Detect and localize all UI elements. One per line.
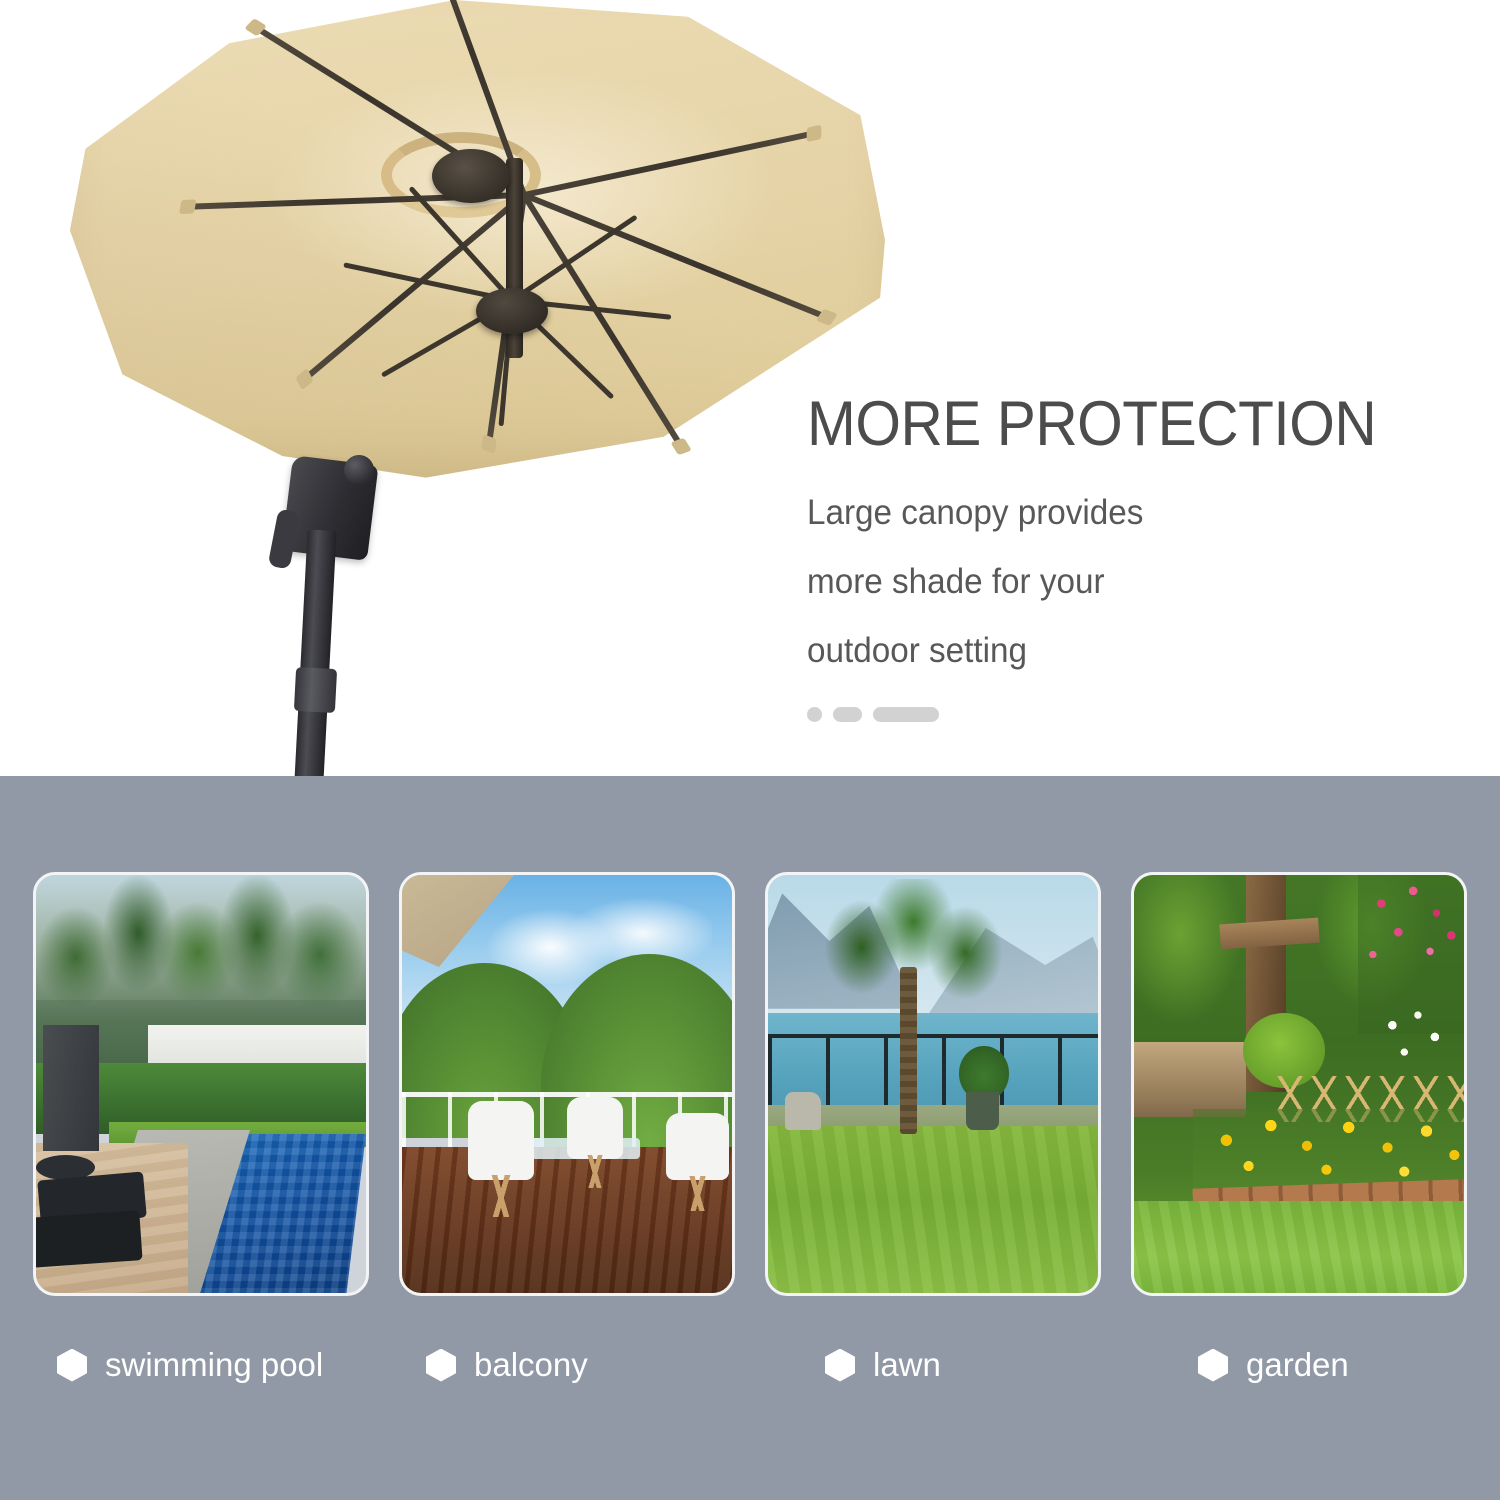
pool-lounger bbox=[36, 1210, 143, 1268]
hero-subcopy-line-3: outdoor setting bbox=[807, 631, 1027, 670]
pool-outdoor-shower bbox=[43, 1025, 99, 1150]
scenario-label: balcony bbox=[474, 1346, 588, 1384]
usage-scenarios-section: swimming pool balcony lawn garden bbox=[0, 776, 1500, 1500]
garden-white-flowers bbox=[1372, 1000, 1458, 1084]
progress-dot-1 bbox=[807, 707, 822, 722]
hexagon-bullet-icon bbox=[426, 1349, 456, 1382]
balcony-chair bbox=[666, 1113, 729, 1180]
umbrella-top-hub bbox=[432, 149, 510, 203]
product-feature-page: MORE PROTECTION Large canopy provides mo… bbox=[0, 0, 1500, 1500]
progress-dot-2 bbox=[833, 707, 862, 722]
umbrella-tilt-knob bbox=[344, 455, 374, 485]
umbrella-pole-collar bbox=[294, 667, 337, 713]
hero-section: MORE PROTECTION Large canopy provides mo… bbox=[0, 0, 1500, 776]
scenario-caption-swimming-pool: swimming pool bbox=[33, 1330, 326, 1400]
scenario-caption-balcony: balcony bbox=[356, 1330, 695, 1400]
scenario-caption-garden: garden bbox=[1124, 1330, 1467, 1400]
lawn-grass bbox=[768, 1126, 1098, 1293]
scenario-label: garden bbox=[1246, 1346, 1349, 1384]
scenario-label: lawn bbox=[873, 1346, 941, 1384]
scenario-thumbnail-lawn[interactable] bbox=[765, 872, 1101, 1296]
patio-umbrella-product-image bbox=[45, 0, 905, 776]
garden-photo bbox=[1134, 875, 1464, 1293]
balcony-photo bbox=[402, 875, 732, 1293]
garden-wooden-bench bbox=[1134, 1042, 1246, 1117]
scenario-thumbnail-swimming-pool[interactable] bbox=[33, 872, 369, 1296]
umbrella-canopy bbox=[65, 0, 885, 480]
lawn-stone-statue bbox=[785, 1092, 821, 1130]
hexagon-bullet-icon bbox=[825, 1349, 855, 1382]
scenario-thumbnail-garden[interactable] bbox=[1131, 872, 1467, 1296]
scenario-thumbnail-balcony[interactable] bbox=[399, 872, 735, 1296]
umbrella-pole bbox=[294, 529, 336, 776]
hexagon-bullet-icon bbox=[1198, 1349, 1228, 1382]
progress-dot-3 bbox=[873, 707, 939, 722]
umbrella-runner-hub bbox=[476, 288, 548, 334]
scenario-caption-lawn: lawn bbox=[725, 1330, 1094, 1400]
hexagon-bullet-icon bbox=[57, 1349, 87, 1382]
hero-text-block: MORE PROTECTION Large canopy provides mo… bbox=[807, 392, 1467, 722]
scenario-caption-row: swimming pool balcony lawn garden bbox=[33, 1330, 1467, 1400]
balcony-chair bbox=[567, 1097, 623, 1160]
garden-grass bbox=[1134, 1201, 1464, 1293]
lawn-photo bbox=[768, 875, 1098, 1293]
hero-subcopy-line-2: more shade for your bbox=[807, 562, 1105, 601]
scenario-label: swimming pool bbox=[105, 1346, 323, 1384]
hero-subcopy-line-1: Large canopy provides bbox=[807, 493, 1143, 532]
lawn-planter-pot bbox=[966, 1092, 999, 1130]
balcony-chair bbox=[468, 1101, 534, 1180]
hero-headline: MORE PROTECTION bbox=[807, 392, 1421, 456]
progress-indicator bbox=[807, 707, 1467, 722]
lawn-palm-crown bbox=[821, 879, 1006, 1021]
hero-subcopy: Large canopy provides more shade for you… bbox=[807, 478, 1434, 685]
swimming-pool-photo bbox=[36, 875, 366, 1293]
scenario-thumbnail-row bbox=[33, 872, 1467, 1296]
